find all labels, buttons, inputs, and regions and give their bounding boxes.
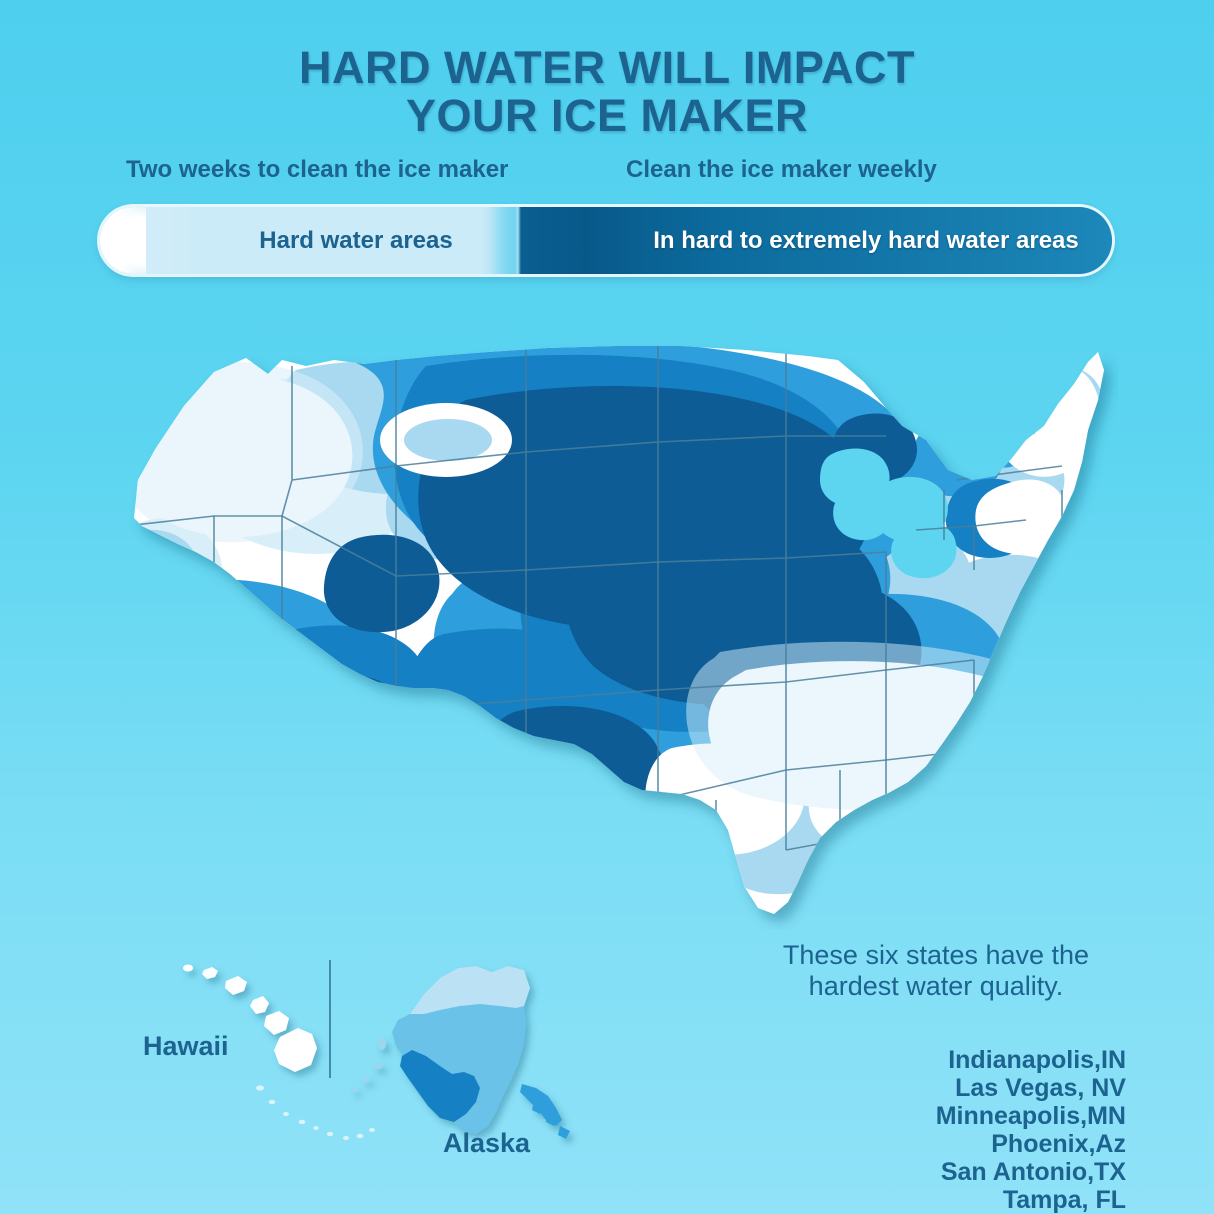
title-line-2: YOUR ICE MAKER <box>0 92 1214 140</box>
map-body <box>105 338 1104 930</box>
us-map-svg <box>96 330 1118 930</box>
caption-two-weeks: Two weeks to clean the ice maker <box>126 156 508 184</box>
florida-hard-zone <box>952 738 1026 920</box>
list-item: Las Vegas, NV <box>746 1074 1126 1102</box>
hardness-zones <box>105 338 1104 930</box>
hardness-legend-bar: Hard water areas In hard to extremely ha… <box>100 207 1112 274</box>
list-item: Indianapolis,IN <box>746 1046 1126 1074</box>
inset-divider <box>329 960 331 1078</box>
hardest-states-list: Indianapolis,IN Las Vegas, NV Minneapoli… <box>746 1046 1126 1214</box>
hardest-states-heading: These six states have the hardest water … <box>746 940 1126 1002</box>
alaska-inset <box>351 966 570 1139</box>
list-item: San Antonio,TX <box>746 1158 1126 1186</box>
aleutian-islands <box>351 1038 386 1092</box>
legend-left-cap <box>100 207 146 274</box>
title-line-1: HARD WATER WILL IMPACT <box>0 44 1214 92</box>
caption-weekly: Clean the ice maker weekly <box>626 156 937 184</box>
hawaii-atoll-chain <box>256 1085 375 1140</box>
legend-captions: Two weeks to clean the ice maker Clean t… <box>0 156 1214 190</box>
hawaii-label: Hawaii <box>143 1031 229 1062</box>
legend-label-hard-water-areas: Hard water areas <box>146 207 566 274</box>
legend-label-extremely-hard-water-areas: In hard to extremely hard water areas <box>620 207 1112 274</box>
us-hardness-map <box>96 330 1118 930</box>
alaska-label: Alaska <box>443 1128 530 1159</box>
list-item: Tampa, FL <box>746 1186 1126 1214</box>
hardest-states-panel: These six states have the hardest water … <box>746 940 1126 1214</box>
page-title: HARD WATER WILL IMPACT YOUR ICE MAKER <box>0 44 1214 140</box>
list-item: Minneapolis,MN <box>746 1102 1126 1130</box>
list-item: Phoenix,Az <box>746 1130 1126 1158</box>
